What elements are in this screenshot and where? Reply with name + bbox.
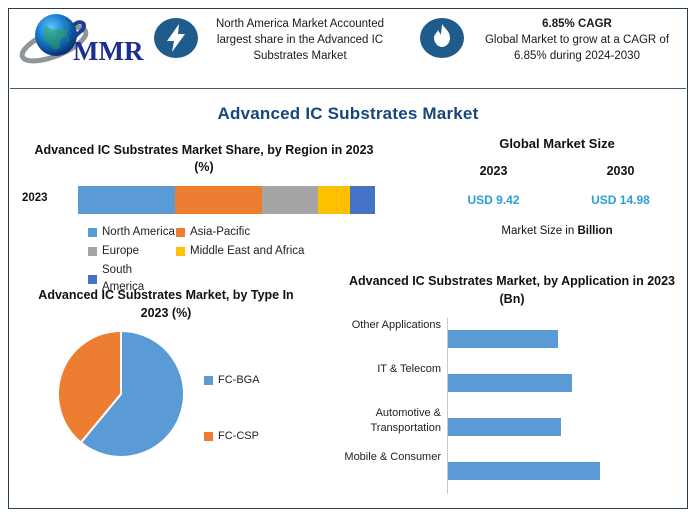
type-legend: FC-BGA FC-CSP <box>204 330 314 458</box>
region-segment-south-america <box>350 186 375 214</box>
gms-value-2030: USD 14.98 <box>566 193 676 207</box>
pie-slices <box>58 331 184 457</box>
global-market-size-panel: Global Market Size 2023 2030 USD 9.42 US… <box>430 136 684 237</box>
legend-label: Middle East and Africa <box>190 243 304 260</box>
legend-swatch-icon <box>176 228 185 237</box>
region-segment-asia-pacific <box>175 186 262 214</box>
gms-year-2030: 2030 <box>566 164 676 178</box>
kpi-cagr-text: 6.85% CAGR Global Market to grow at a CA… <box>474 16 680 64</box>
legend-swatch-icon <box>204 376 213 385</box>
application-label: Other Applications <box>336 318 441 333</box>
global-market-size-values: USD 9.42 USD 14.98 <box>430 193 684 207</box>
application-row-it-telecom: IT & Telecom <box>336 362 688 406</box>
legend-swatch-icon <box>88 247 97 256</box>
flame-icon <box>418 16 466 60</box>
region-segment-middle-east-and-africa <box>318 186 350 214</box>
region-chart-title: Advanced IC Substrates Market Share, by … <box>24 142 384 176</box>
kpi-cagr-headline: 6.85% CAGR <box>474 16 680 32</box>
legend-item-asia-pacific: Asia-Pacific <box>176 224 376 241</box>
global-market-size-unit-note: Market Size in Billion <box>430 225 684 237</box>
global-market-size-title: Global Market Size <box>430 136 684 151</box>
application-chart-title: Advanced IC Substrates Market, by Applic… <box>347 272 677 308</box>
legend-item-north-america: North America <box>88 224 176 241</box>
type-pie-wrap: FC-BGA FC-CSP <box>16 330 316 490</box>
lightning-bolt-icon <box>152 16 200 60</box>
kpi-region-text: North America Market Accounted largest s… <box>208 16 392 64</box>
legend-swatch-icon <box>204 432 213 441</box>
application-bar <box>448 374 572 392</box>
legend-item-fc-csp: FC-CSP <box>204 430 259 442</box>
gms-note-unit: Billion <box>577 225 612 237</box>
kpi-cagr-callout: 6.85% CAGR Global Market to grow at a CA… <box>418 16 680 64</box>
infographic-root: MMR North America Market Accounted large… <box>0 0 696 517</box>
region-stacked-bar: 2023 <box>14 186 414 216</box>
application-row-other: Other Applications <box>336 318 688 362</box>
global-market-size-years: 2023 2030 <box>430 164 684 178</box>
legend-label: North America <box>102 224 175 241</box>
application-label: IT & Telecom <box>336 362 441 377</box>
gms-value-2023: USD 9.42 <box>439 193 549 207</box>
legend-swatch-icon <box>88 275 97 284</box>
kpi-cagr-body: Global Market to grow at a CAGR of 6.85%… <box>485 34 669 62</box>
application-bar <box>448 418 561 436</box>
region-segment-north-america <box>78 186 175 214</box>
logo-wordmark: MMR <box>73 36 144 66</box>
application-bar <box>448 330 558 348</box>
mmr-logo: MMR <box>18 10 148 76</box>
application-label: Automotive & Transportation <box>336 406 441 436</box>
type-chart-panel: Advanced IC Substrates Market, by Type I… <box>16 286 316 322</box>
application-row-mobile-consumer: Mobile & Consumer <box>336 450 688 494</box>
type-pie-chart <box>57 330 185 458</box>
gms-note-prefix: Market Size in <box>501 225 577 237</box>
legend-label: Europe <box>102 243 139 260</box>
application-bar-chart: Other Applications IT & Telecom Automoti… <box>336 316 688 502</box>
application-row-automotive: Automotive & Transportation <box>336 406 688 450</box>
region-segment-europe <box>262 186 318 214</box>
legend-item-fc-bga: FC-BGA <box>204 374 260 386</box>
application-bar <box>448 462 600 480</box>
gms-year-2023: 2023 <box>439 164 549 178</box>
application-label: Mobile & Consumer <box>336 450 441 465</box>
legend-label: FC-BGA <box>218 374 260 386</box>
legend-label: Asia-Pacific <box>190 224 250 241</box>
region-stack <box>78 186 375 214</box>
region-chart-panel: Advanced IC Substrates Market Share, by … <box>14 142 414 176</box>
application-chart-panel: Advanced IC Substrates Market, by Applic… <box>336 272 688 308</box>
legend-swatch-icon <box>176 247 185 256</box>
region-category-label: 2023 <box>22 192 48 204</box>
legend-swatch-icon <box>88 228 97 237</box>
page-title: Advanced IC Substrates Market <box>0 104 696 124</box>
type-chart-title: Advanced IC Substrates Market, by Type I… <box>26 286 306 322</box>
legend-item-europe: Europe <box>88 243 176 260</box>
legend-item-middle-east-and-africa: Middle East and Africa <box>176 243 376 260</box>
kpi-region-callout: North America Market Accounted largest s… <box>152 16 392 64</box>
legend-label: FC-CSP <box>218 430 259 442</box>
header-divider <box>10 88 686 89</box>
